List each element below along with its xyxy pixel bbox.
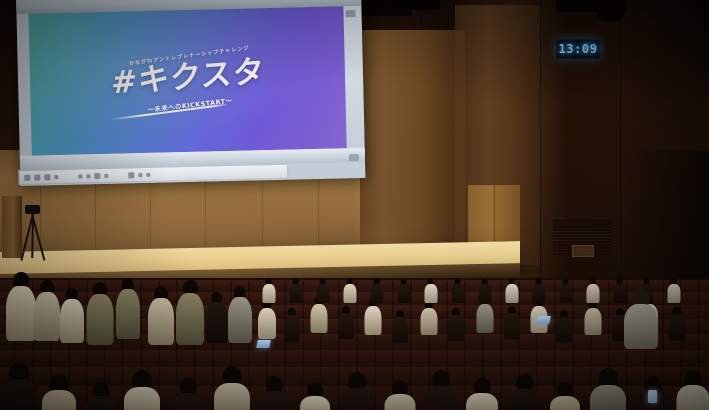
laptop-screen xyxy=(256,340,271,348)
foreground-person xyxy=(258,376,290,410)
fullscreen-icon[interactable] xyxy=(138,173,142,177)
camera-tripod xyxy=(14,205,50,263)
person-body xyxy=(559,284,572,304)
person-body xyxy=(310,304,327,334)
stop-icon[interactable] xyxy=(44,174,50,180)
person-body xyxy=(116,289,140,339)
person-body xyxy=(343,284,356,304)
person-body xyxy=(284,315,300,343)
person-body xyxy=(34,292,60,341)
screen-control-chip[interactable] xyxy=(349,154,359,161)
standing-person xyxy=(228,286,252,344)
pause-icon[interactable] xyxy=(34,174,40,180)
audience-person xyxy=(289,278,302,304)
phone-screen xyxy=(648,390,657,403)
person-body xyxy=(86,396,116,410)
person-body xyxy=(262,284,275,304)
person-body xyxy=(466,393,498,410)
foreground-person xyxy=(172,378,204,410)
person-body xyxy=(42,390,76,410)
audience-person xyxy=(668,306,685,342)
auditorium-seating xyxy=(0,278,709,410)
person-body xyxy=(148,298,174,345)
seat-backs xyxy=(0,351,709,368)
wall-seam xyxy=(540,0,541,300)
audience-person xyxy=(284,308,300,344)
person-body xyxy=(424,284,437,304)
person-body xyxy=(424,386,458,410)
audience-person xyxy=(343,278,356,304)
logo-supertitle: かながわアントレプレナーシップチャレンジ xyxy=(115,43,263,69)
foreground-person xyxy=(86,382,116,410)
person-body xyxy=(364,306,381,336)
person-body xyxy=(370,284,383,304)
person-body xyxy=(60,299,84,343)
seat-row xyxy=(0,350,709,368)
audience-person xyxy=(451,278,464,304)
standing-person xyxy=(116,278,140,340)
person-body xyxy=(300,396,330,410)
audience-person xyxy=(420,300,437,336)
person-body xyxy=(228,297,252,343)
standing-person xyxy=(148,286,174,346)
eraser-icon[interactable] xyxy=(104,173,108,177)
audience-person xyxy=(392,310,408,344)
person-body xyxy=(86,294,113,345)
pointer-icon[interactable] xyxy=(86,174,90,178)
foreground-person xyxy=(124,370,160,410)
foreground-person xyxy=(0,362,38,410)
audience-person xyxy=(370,278,383,304)
audience-person xyxy=(338,306,354,340)
person-body xyxy=(258,391,290,410)
person-body xyxy=(206,302,228,343)
settings-icon[interactable] xyxy=(146,172,150,176)
foreground-person xyxy=(300,382,330,410)
event-logo: かながわアントレプレナーシップチャレンジ #キクスタ 〜未来へのKICKSTAR… xyxy=(109,47,267,116)
audience-person xyxy=(397,278,410,304)
audience-person xyxy=(448,308,464,342)
grid-icon[interactable] xyxy=(128,172,134,178)
person-body xyxy=(667,284,680,304)
audience-person xyxy=(586,278,599,304)
foreground-person xyxy=(42,374,76,410)
person-body xyxy=(676,385,709,410)
clock-time: 13:09 xyxy=(558,42,597,56)
person-body xyxy=(340,388,374,410)
person-body xyxy=(478,284,491,304)
person-body xyxy=(624,304,658,349)
standing-person xyxy=(176,280,204,346)
audience-person xyxy=(258,300,276,340)
person-body xyxy=(505,284,518,304)
foreground-person xyxy=(550,382,580,410)
next-icon[interactable] xyxy=(78,174,82,178)
person-body xyxy=(214,383,250,410)
standing-person xyxy=(34,280,60,342)
foreground-person xyxy=(340,372,374,410)
standing-person xyxy=(206,292,228,344)
laptop-screen xyxy=(536,316,551,324)
person-body xyxy=(550,396,580,410)
person-body xyxy=(6,286,36,341)
foreground-person xyxy=(508,374,541,410)
audience-person xyxy=(424,278,437,304)
foreground-person xyxy=(590,368,626,410)
audience-person xyxy=(667,278,680,304)
prev-icon[interactable] xyxy=(54,175,58,179)
person-body xyxy=(289,284,302,304)
audience-person xyxy=(505,278,518,304)
person-body xyxy=(590,385,626,410)
auditorium-scene: かながわアントレプレナーシップチャレンジ #キクスタ 〜未来へのKICKSTAR… xyxy=(0,0,709,410)
audience-person xyxy=(316,278,329,304)
person-body xyxy=(532,284,545,304)
person-body xyxy=(556,317,572,343)
person-body xyxy=(504,313,520,339)
person-body xyxy=(338,313,354,339)
person-body xyxy=(668,314,685,342)
audience-person xyxy=(262,278,275,304)
screen-control-chip[interactable] xyxy=(345,10,355,17)
person-body xyxy=(392,317,408,343)
person-body xyxy=(586,284,599,304)
ceiling-speaker xyxy=(598,8,624,22)
person-body xyxy=(397,284,410,304)
person-body xyxy=(451,284,464,304)
standing-person xyxy=(60,288,84,344)
audience-person xyxy=(556,310,572,344)
audience-person xyxy=(532,278,545,304)
logo-subtitle: 〜未来へのKICKSTART〜 xyxy=(112,92,266,118)
ceiling-rig xyxy=(398,0,440,10)
play-icon[interactable] xyxy=(24,174,30,180)
person-body xyxy=(384,394,415,410)
person-body xyxy=(172,393,204,410)
audience-person xyxy=(559,278,572,304)
room-sign xyxy=(572,245,594,257)
projection-surface: かながわアントレプレナーシップチャレンジ #キクスタ 〜未来へのKICKSTAR… xyxy=(28,6,346,155)
person-body xyxy=(476,304,493,334)
standing-person xyxy=(86,282,113,346)
wall-seam xyxy=(620,0,621,300)
standing-person xyxy=(6,272,36,342)
projection-screen-assembly: かながわアントレプレナーシップチャレンジ #キクスタ 〜未来へのKICKSTAR… xyxy=(16,0,366,194)
person-body xyxy=(448,315,464,341)
person-body xyxy=(176,293,204,345)
foreground-person xyxy=(424,370,458,410)
person-body xyxy=(420,308,437,336)
person-body xyxy=(124,387,160,410)
foreground-person xyxy=(384,380,415,410)
person-body xyxy=(508,389,541,410)
digital-clock: 13:09 xyxy=(556,39,600,59)
person-body xyxy=(584,308,601,336)
person-body xyxy=(258,308,276,339)
logo-title: #キクスタ xyxy=(110,57,264,100)
foreground-person xyxy=(214,366,250,410)
person-body xyxy=(316,284,329,304)
audience-person xyxy=(504,306,520,340)
pen-icon[interactable] xyxy=(94,173,100,179)
foreground-person xyxy=(466,378,498,410)
logo-underline xyxy=(109,104,226,121)
audience-person xyxy=(478,278,491,304)
foreground-person xyxy=(676,370,709,410)
standing-person xyxy=(624,288,658,350)
audience-person xyxy=(584,300,601,336)
person-body xyxy=(0,379,38,410)
